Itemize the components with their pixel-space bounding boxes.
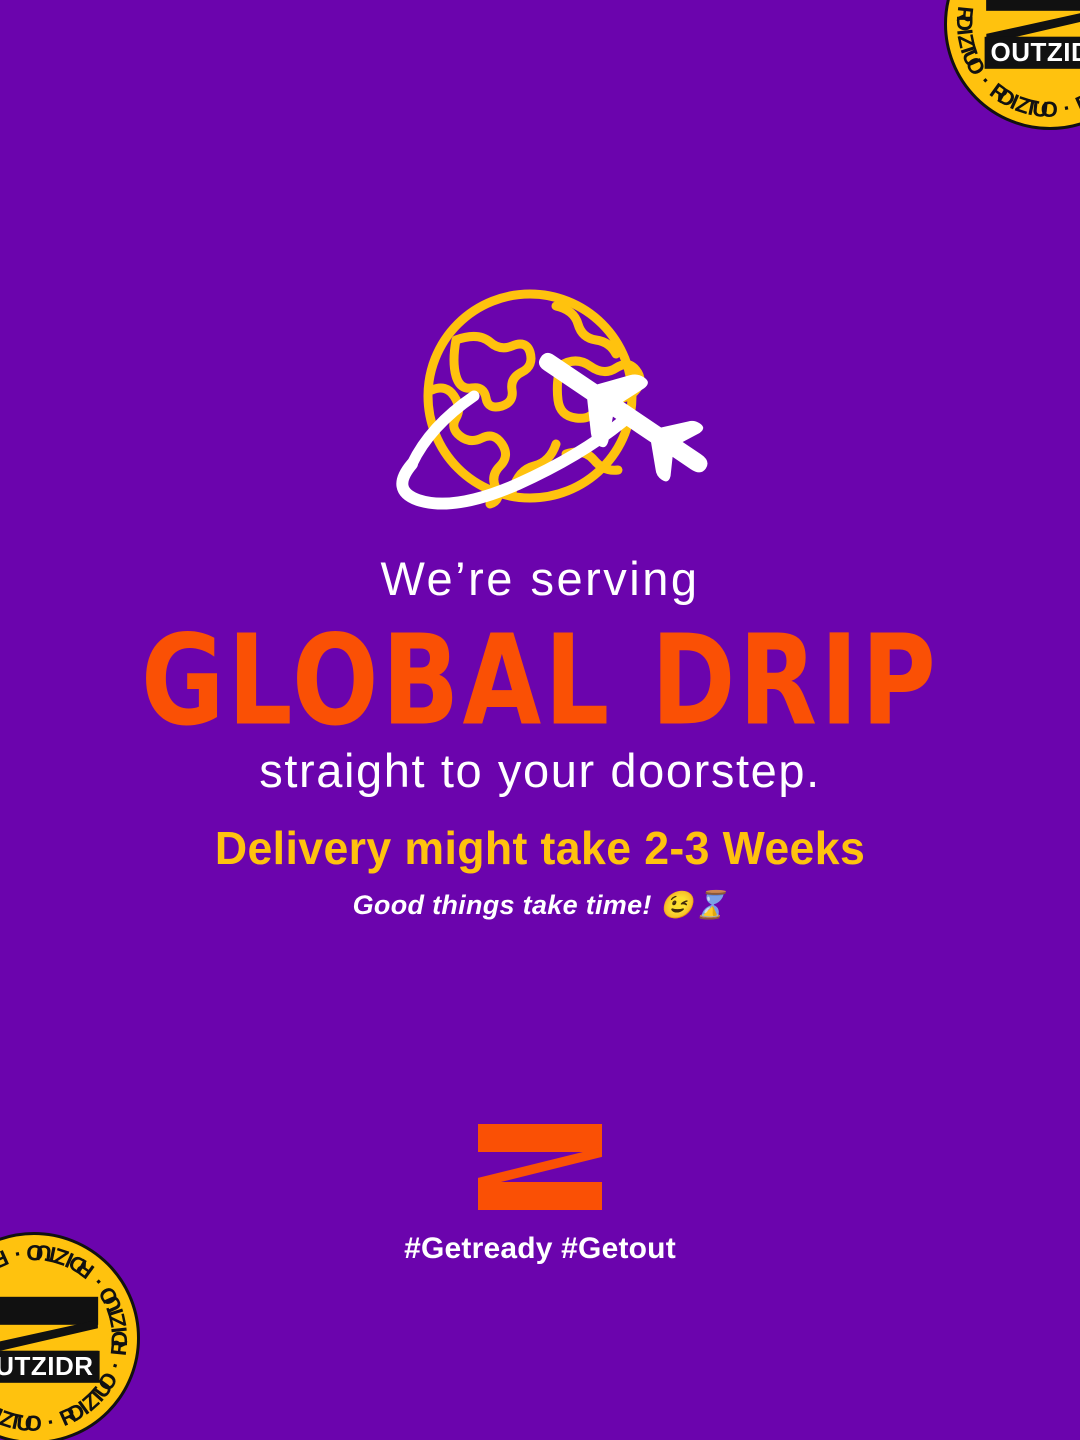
delivery-note-block: Delivery might take 2-3 Weeks Good thing…	[0, 822, 1080, 921]
poster-canvas: We’re serving GLOBAL DRIP straight to yo…	[0, 0, 1080, 1440]
z-logo-top-bar	[478, 1124, 602, 1152]
delivery-headline: Delivery might take 2-3 Weeks	[16, 822, 1064, 875]
footer-hashtags: #Getready #Getout	[0, 1232, 1080, 1266]
badge-z-top-bar	[986, 0, 1080, 11]
badge-center-logo: OUTZIDR	[0, 1297, 98, 1379]
badge-wordmark: OUTZIDR	[0, 1351, 100, 1382]
badge-wordmark: OUTZIDR	[984, 37, 1080, 68]
footer-block: #Getready #Getout	[0, 1124, 1080, 1266]
badge-ring-char: ·	[9, 1240, 23, 1267]
badge-ring-char: R	[951, 5, 979, 25]
delivery-subline: Good things take time! 😉⌛	[0, 889, 1080, 921]
globe-airplane-illustration	[360, 278, 720, 518]
headline-block: We’re serving GLOBAL DRIP straight to yo…	[0, 552, 1080, 798]
headline-line-global-drip: GLOBAL DRIP	[0, 618, 1080, 743]
badge-ring-char: R	[106, 1337, 134, 1357]
outzidr-z-logo	[478, 1124, 602, 1210]
badge-z-top-bar	[0, 1297, 98, 1325]
badge-center-logo: OUTZIDR	[986, 0, 1080, 65]
z-logo-bottom-bar	[478, 1182, 602, 1210]
outzidr-sticker-badge-top-right: OUTZIDR·OUTZIDR·OUTZIDR·OUTZIDR·OUTZIDR·…	[944, 0, 1080, 130]
headline-line-serving: We’re serving	[0, 552, 1080, 606]
